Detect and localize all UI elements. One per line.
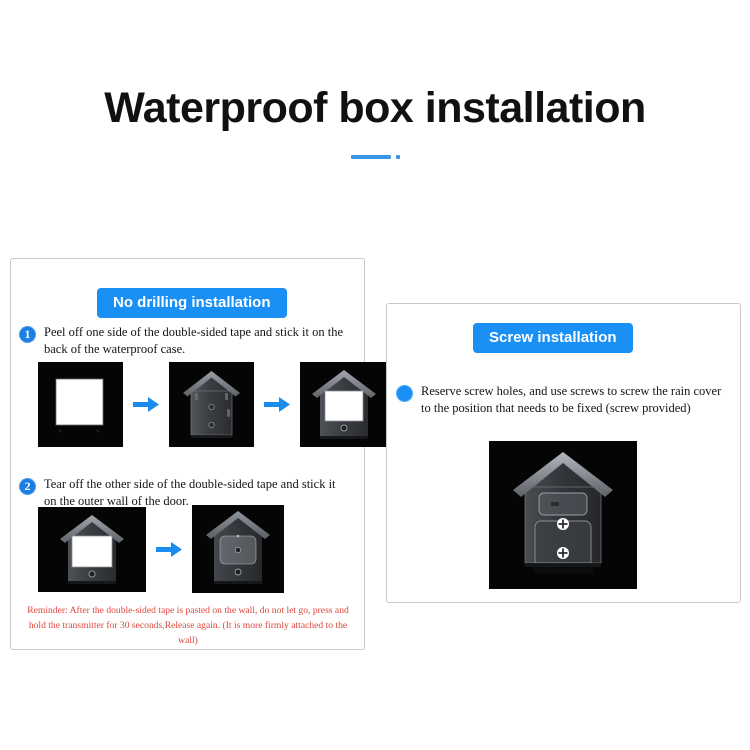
- figure-cover-with-two-screws: [489, 441, 637, 589]
- figure-cover-back-with-tape: [192, 505, 284, 593]
- step-number-badge-1: 1: [19, 326, 36, 343]
- step-text-screw: Reserve screw holes, and use screws to s…: [421, 383, 726, 416]
- arrow-right-icon-3: [146, 542, 192, 557]
- underline-bar: [351, 155, 391, 159]
- step-row-1: 1 Peel off one side of the double-sided …: [19, 324, 349, 357]
- title-underline-decoration: [0, 155, 750, 159]
- figure-house-cover-with-panel: [300, 362, 388, 447]
- figure-house-cover-empty: [169, 362, 254, 447]
- step-text-1: Peel off one side of the double-sided ta…: [44, 324, 349, 357]
- arrow-right-icon-2: [254, 397, 300, 412]
- badge-screw-installation: Screw installation: [473, 323, 633, 353]
- figure-assembled-cover-front: [38, 507, 146, 592]
- reminder-text: Reminder: After the double-sided tape is…: [22, 604, 354, 649]
- badge-no-drilling-installation: No drilling installation: [97, 288, 287, 318]
- figure-strip-step-1: [38, 362, 388, 447]
- step-number-badge-2: 2: [19, 478, 36, 495]
- step-row-screw: Reserve screw holes, and use screws to s…: [396, 383, 726, 416]
- page-title: Waterproof box installation: [0, 84, 750, 133]
- underline-dot: [396, 155, 400, 159]
- figure-strip-step-2: [38, 505, 284, 593]
- arrow-right-icon-1: [123, 397, 169, 412]
- figure-white-panel-front: [38, 362, 123, 447]
- bullet-dot-icon: [396, 385, 413, 402]
